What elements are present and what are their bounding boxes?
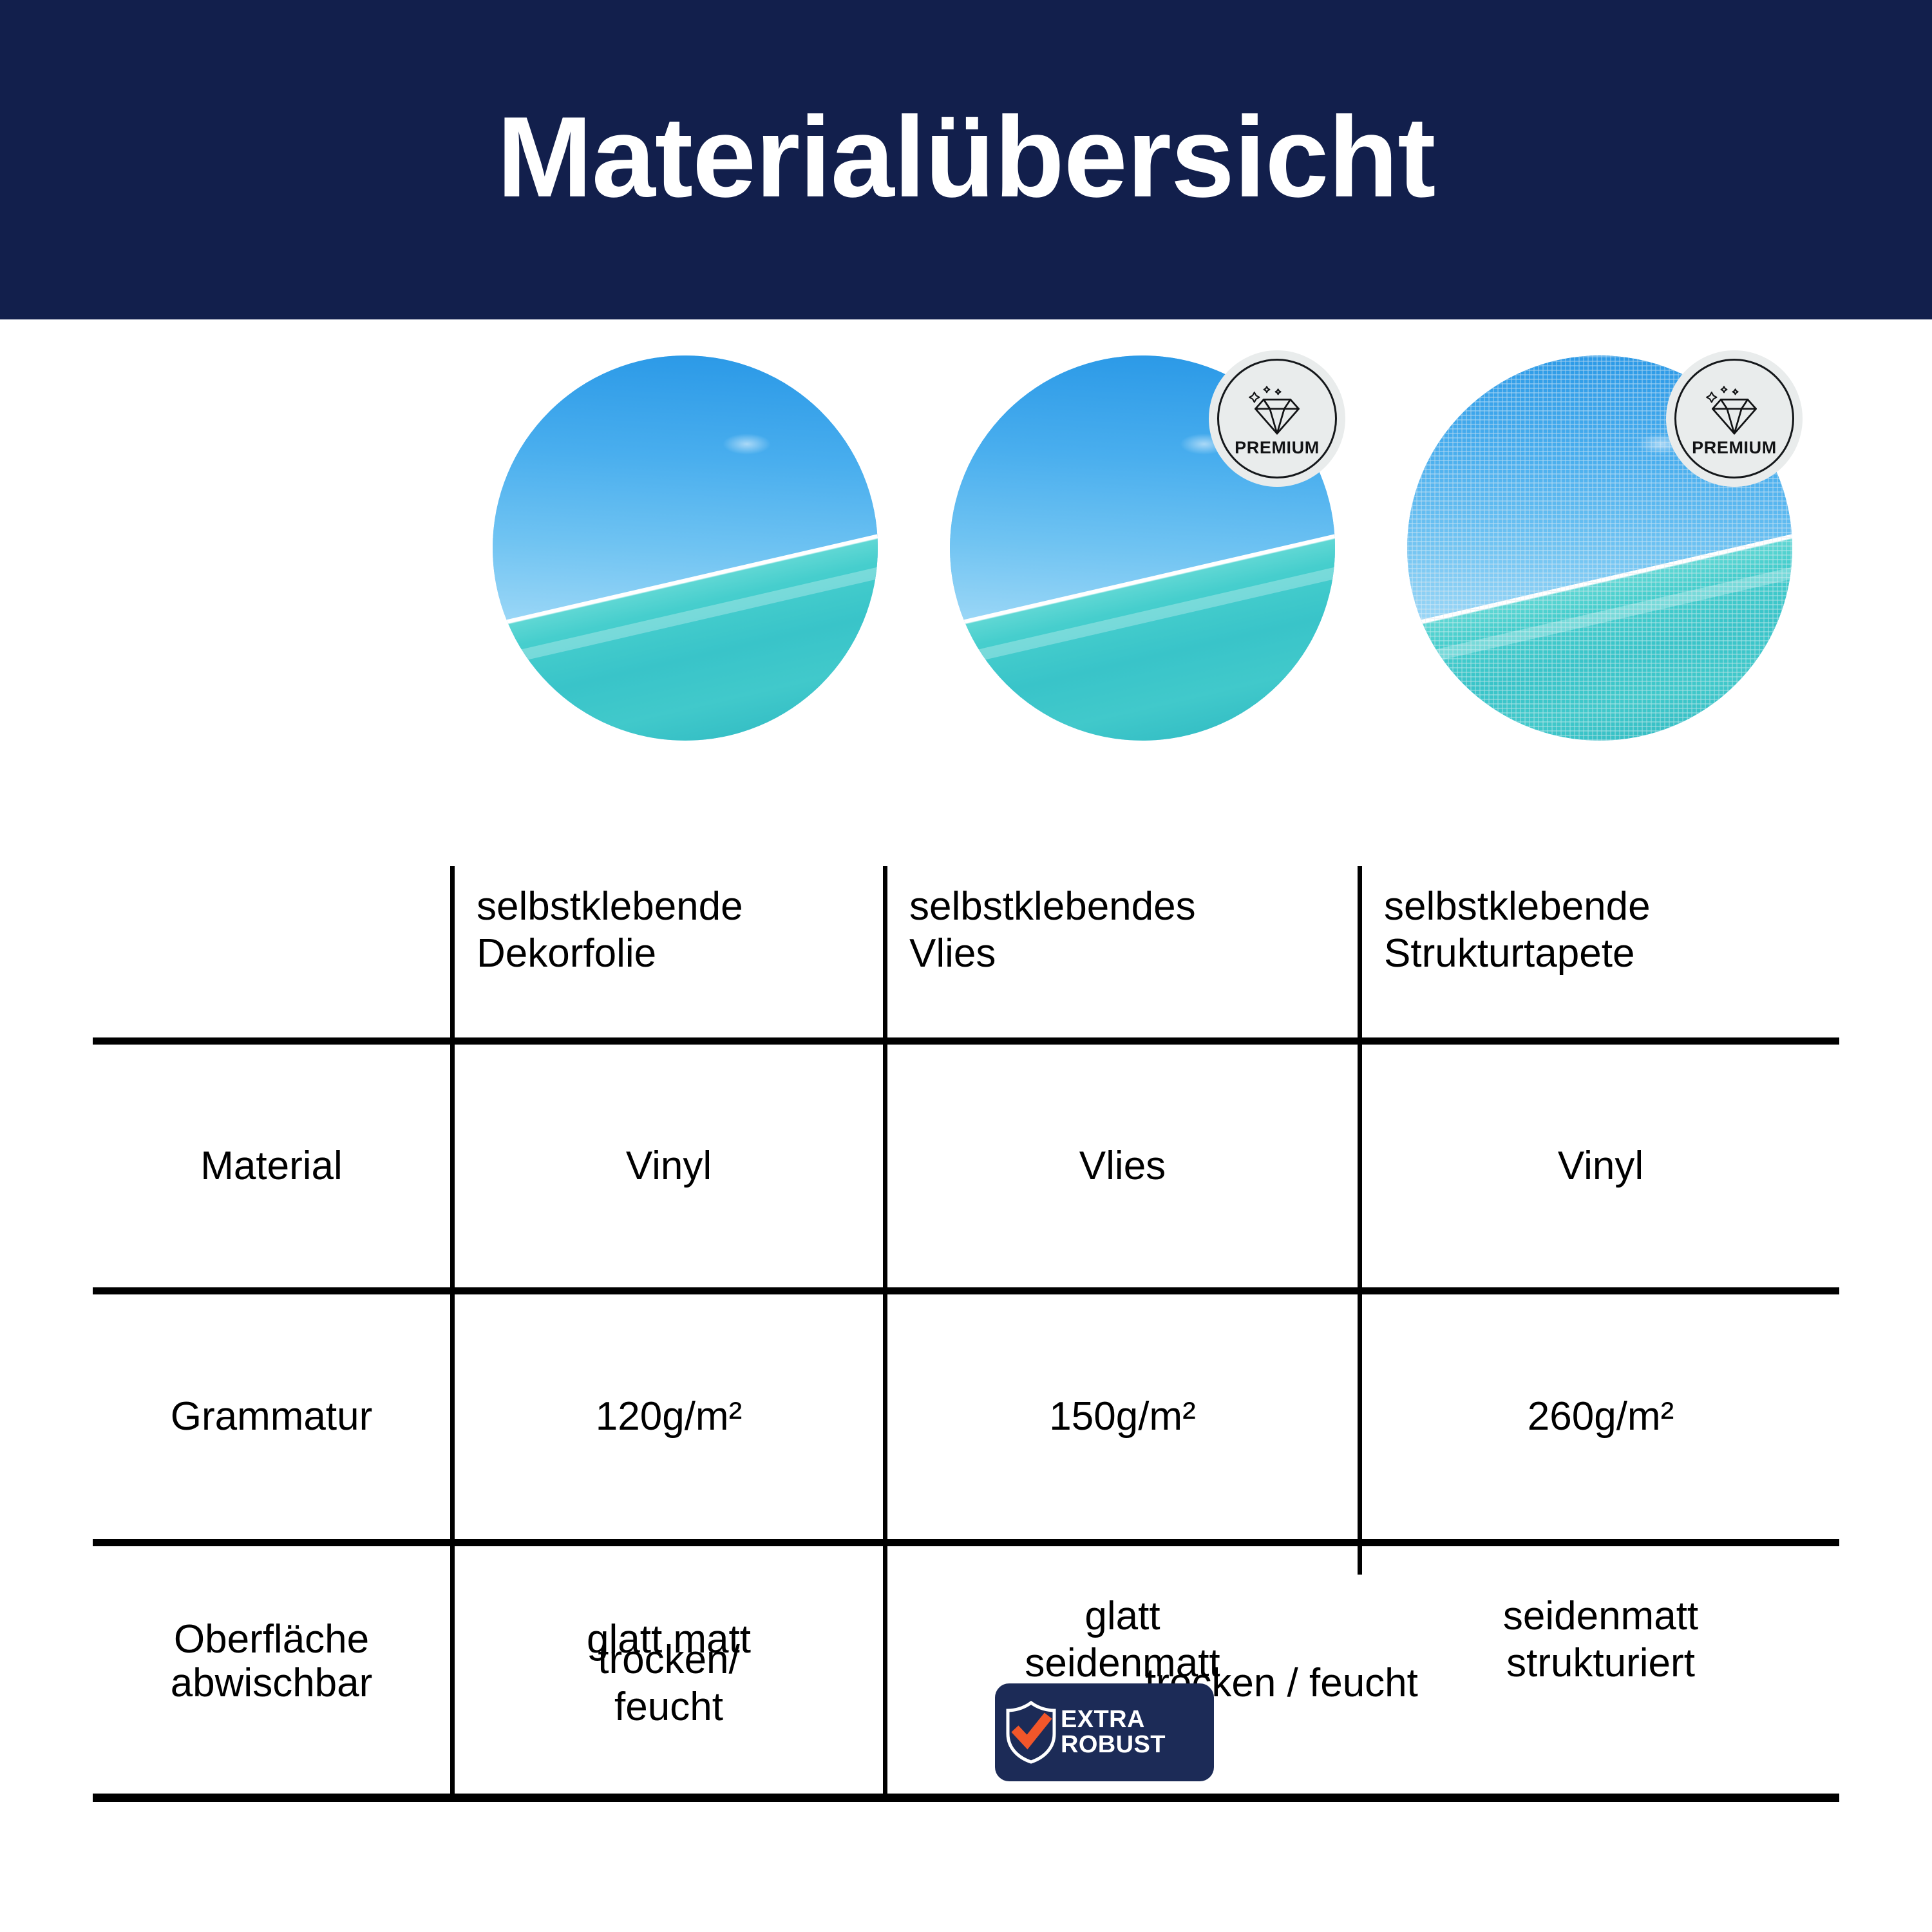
value-line-1: trocken/ — [598, 1636, 740, 1683]
page-title: Materialübersicht — [497, 100, 1435, 214]
diamond-icon — [1703, 384, 1765, 438]
extra-robust-line-1: EXTRA — [1061, 1707, 1166, 1732]
cell-abwischbar-dekorfolie: trocken/ feucht — [455, 1573, 883, 1794]
column-divider-2 — [883, 866, 887, 1797]
cell-grammatur-vlies: 150g/m² — [887, 1294, 1358, 1539]
row-divider-grammatur — [93, 1539, 1839, 1546]
shield-check-icon — [1004, 1700, 1058, 1765]
beach-photo-circle — [493, 355, 878, 741]
material-preview-strip: PREMIUM — [0, 355, 1932, 768]
cell-grammatur-dekorfolie: 120g/m² — [455, 1294, 883, 1539]
row-divider-material — [93, 1287, 1839, 1294]
header-line-2: Dekorfolie — [477, 930, 656, 977]
row-label-grammatur: Grammatur — [93, 1294, 450, 1539]
premium-badge: PREMIUM — [1666, 350, 1803, 487]
material-preview-strukturtapete[interactable]: PREMIUM — [1407, 355, 1792, 741]
table-header-cell-2: selbstklebendes Vlies — [887, 882, 1358, 1036]
row-label-abwischbar: abwischbar — [93, 1573, 450, 1794]
header-line-1: selbstklebende — [1384, 883, 1651, 930]
column-divider-1 — [450, 866, 455, 1797]
table-header-cell-1: selbstklebende Dekorfolie — [455, 882, 883, 1036]
premium-badge-label: PREMIUM — [1692, 439, 1777, 457]
page-header: Materialübersicht — [0, 0, 1932, 319]
extra-robust-badge: EXTRA ROBUST — [995, 1683, 1214, 1781]
material-spec-table: selbstklebende Dekorfolie selbstklebende… — [93, 866, 1839, 1806]
cell-material-vlies: Vlies — [887, 1045, 1358, 1287]
row-divider-bottom — [93, 1794, 1839, 1802]
row-label-material: Material — [93, 1045, 450, 1287]
premium-badge: PREMIUM — [1209, 350, 1345, 487]
row-divider-header — [93, 1037, 1839, 1045]
header-line-2: Strukturtapete — [1384, 930, 1634, 977]
diamond-icon — [1246, 384, 1308, 438]
header-line-2: Vlies — [909, 930, 996, 977]
extra-robust-line-2: ROBUST — [1061, 1732, 1166, 1757]
table-header-cell-3: selbstklebende Strukturtapete — [1362, 882, 1839, 1036]
material-preview-vlies[interactable]: PREMIUM — [950, 355, 1335, 741]
cell-material-dekorfolie: Vinyl — [455, 1045, 883, 1287]
header-line-1: selbstklebendes — [909, 883, 1196, 930]
cell-grammatur-strukturtapete: 260g/m² — [1362, 1294, 1839, 1539]
material-preview-dekorfolie[interactable] — [493, 355, 878, 741]
column-divider-3 — [1358, 866, 1362, 1575]
premium-badge-label: PREMIUM — [1235, 439, 1320, 457]
header-line-1: selbstklebende — [477, 883, 743, 930]
value-line-2: feucht — [614, 1683, 723, 1730]
cell-material-strukturtapete: Vinyl — [1362, 1045, 1839, 1287]
